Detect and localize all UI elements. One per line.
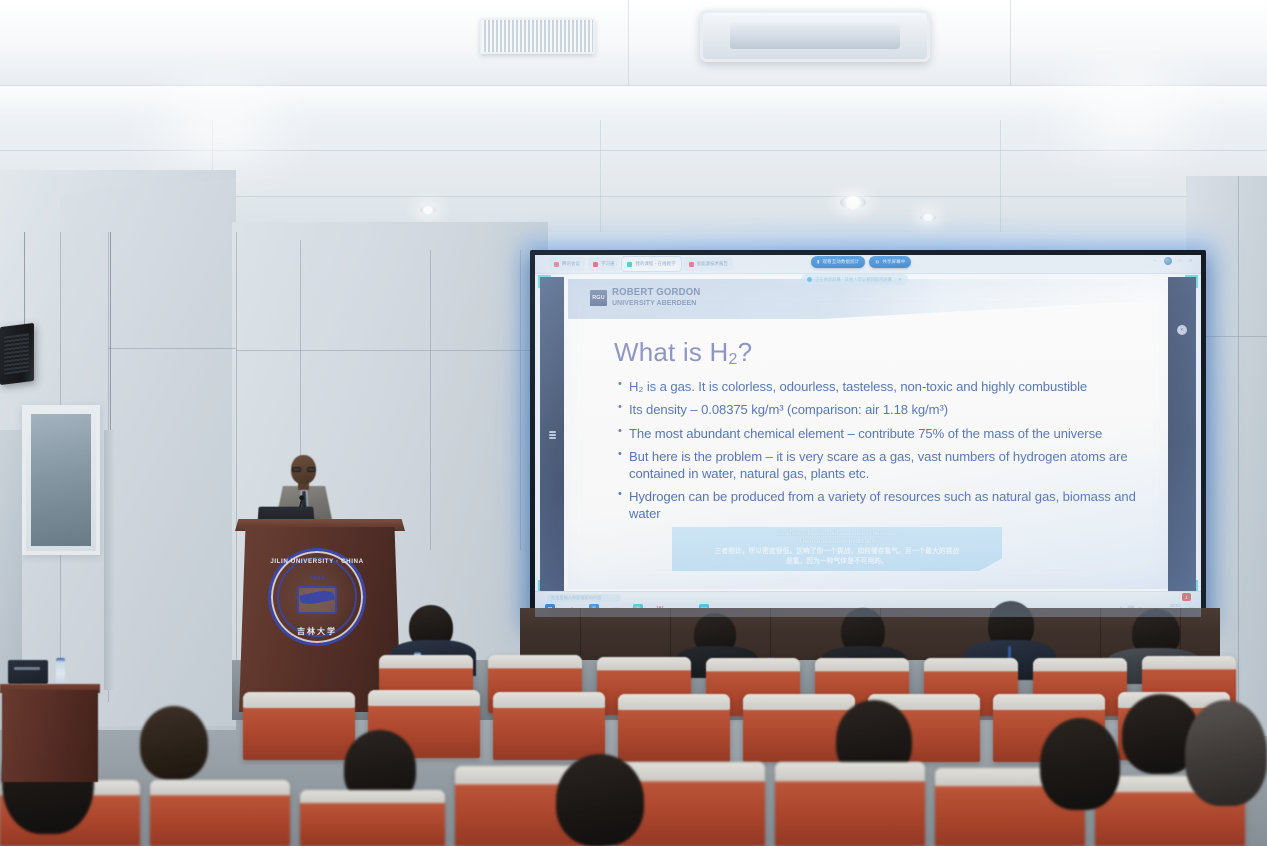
slide-bullet: H₂ is a gas. It is colorless, odourless,… [618, 379, 1138, 395]
wall-recess [104, 430, 114, 690]
ceiling-glow [1000, 60, 1260, 160]
downlight [920, 214, 936, 221]
signal-icon: ▮ [817, 259, 820, 265]
projection-screen[interactable]: 腾讯会议 学习通 我的课程 - 在线教学 氢能源技术报告 ▮ 观看互动数据统计 … [535, 255, 1201, 617]
ceiling-tile-seam [1000, 120, 1001, 232]
caption-english-line2: There are a lot of hydrogen [678, 538, 996, 546]
slide-title: What is H2? [614, 337, 752, 369]
taskbar-search-input[interactable]: 在这里输入你要搜索的内容 [547, 594, 621, 602]
wall-panel-seam [1238, 176, 1239, 736]
ac-diffuser [700, 10, 930, 62]
speaker-hanging-wire [24, 232, 25, 328]
close-button[interactable]: ✕ [1189, 258, 1193, 264]
browser-tab-active[interactable]: 我的课程 - 在线教学 [622, 257, 680, 271]
presentation-slide[interactable]: RGU ROBERT GORDON UNIVERSITY ABERDEEN Wh… [568, 279, 1168, 589]
stats-pill-button[interactable]: ▮ 观看互动数据统计 [811, 256, 865, 268]
share-pill-label: 共享屏幕中 [882, 259, 905, 265]
tab-label: 我的课程 - 在线教学 [635, 261, 675, 267]
rgu-logo-line2: UNIVERSITY ABERDEEN [612, 299, 700, 307]
left-sidebar-rail[interactable] [540, 277, 564, 593]
slide-bullet: But here is the problem – it is very sca… [618, 449, 1138, 482]
auditorium-seat [775, 762, 925, 846]
tab-favicon [689, 262, 694, 267]
slide-bullet: Its density – 0.08375 kg/m³ (comparison:… [618, 402, 1138, 418]
auditorium-seat [300, 790, 445, 846]
screen-share-pill-button[interactable]: ◍ 共享屏幕中 [869, 256, 911, 268]
side-desk [2, 690, 98, 782]
ceiling-tile-seam [600, 120, 601, 232]
wall-panel-seam [236, 350, 548, 351]
ceiling-tile-seam [628, 0, 629, 86]
hamburger-menu-icon[interactable] [549, 431, 556, 438]
browser-tab[interactable]: 氢能源技术报告 [684, 257, 733, 271]
auditorium-seat [618, 694, 730, 762]
slide-bullet: Hydrogen can be produced from a variety … [618, 489, 1138, 522]
right-sidebar-rail[interactable]: ‹ [1168, 277, 1196, 593]
browser-tab[interactable]: 学习通 [588, 257, 619, 271]
downlight [840, 196, 866, 209]
air-vent [480, 18, 595, 54]
audience-head [556, 754, 644, 846]
globe-icon[interactable] [1164, 257, 1172, 265]
live-caption-overlay: as a form of gas is not available. There… [672, 527, 1002, 571]
notification-badge[interactable]: 1 [1182, 593, 1191, 601]
tab-favicon [593, 262, 598, 267]
audience-head [1185, 700, 1267, 806]
slide-bullet: The most abundant chemical element – con… [618, 426, 1138, 442]
audience-head [1040, 718, 1120, 810]
audience-head [140, 706, 208, 780]
browser-tab[interactable]: 腾讯会议 [549, 257, 585, 271]
crest-year: 1946 [268, 575, 366, 582]
auditorium-seat [243, 692, 355, 760]
equipment-case [8, 660, 48, 684]
ceiling-glow [100, 80, 340, 170]
ceiling-wire [110, 232, 111, 452]
tab-label: 氢能源技术报告 [697, 261, 728, 267]
tab-label: 腾讯会议 [562, 261, 580, 267]
sharing-note-label: 正在共享屏幕 · 其他人可以看到您的屏幕 [815, 277, 892, 283]
rgu-mark-icon: RGU [590, 290, 607, 306]
slide-title-suffix: ? [738, 337, 753, 367]
tab-label: 学习通 [601, 261, 614, 267]
mic-icon: ◍ [875, 259, 879, 265]
slide-title-prefix: What is H [614, 337, 728, 367]
caption-chinese-line1: 三者相比，所以密度很低。这响了你一个挑战，如何储存氢气。另一个最大的挑战 [678, 547, 996, 556]
caption-english-line1: as a form of gas is not available. There… [678, 530, 996, 538]
side-window [22, 405, 100, 555]
auditorium-seat [493, 692, 605, 760]
sharing-notification-bar[interactable]: 正在共享屏幕 · 其他人可以看到您的屏幕 ✕ [801, 274, 908, 285]
water-bottle [56, 658, 65, 684]
tab-favicon [627, 262, 632, 267]
rgu-logo: RGU ROBERT GORDON UNIVERSITY ABERDEEN [590, 288, 708, 307]
focus-corner-marker [538, 275, 551, 288]
stats-pill-label: 观看互动数据统计 [823, 259, 860, 265]
wall-loudspeaker [0, 323, 34, 385]
maximize-button[interactable]: □ [1179, 258, 1182, 264]
eyeglasses-icon [291, 467, 316, 472]
caption-chinese-line2: 是氢，因为一种气体是不可用的。 [678, 557, 996, 566]
focus-corner-marker [1185, 275, 1198, 288]
downlight [420, 206, 436, 214]
lecture-hall-photo: 腾讯会议 学习通 我的课程 - 在线教学 氢能源技术报告 ▮ 观看互动数据统计 … [0, 0, 1267, 846]
share-dot-icon [807, 277, 812, 282]
wall-panel-seam [108, 348, 236, 349]
crest-top-text: JILIN UNIVERSITY · CHINA [268, 558, 366, 565]
close-icon[interactable]: ✕ [898, 277, 902, 283]
university-crest: JILIN UNIVERSITY · CHINA 1946 吉林大学 [268, 548, 366, 646]
window-glass [31, 414, 91, 546]
rgu-logo-line1: ROBERT GORDON [612, 288, 700, 298]
rgu-wordmark: ROBERT GORDON UNIVERSITY ABERDEEN [612, 288, 708, 307]
minimize-button[interactable]: ─ [1153, 258, 1157, 264]
window-controls[interactable]: ─ □ ✕ [1153, 257, 1193, 265]
share-status-pills[interactable]: ▮ 观看互动数据统计 ◍ 共享屏幕中 [811, 256, 911, 268]
slide-bullet-list: H₂ is a gas. It is colorless, odourless,… [618, 379, 1138, 522]
chevron-left-icon[interactable]: ‹ [1177, 325, 1187, 335]
wall-panel-seam [236, 232, 237, 702]
wall-panel-seam [430, 250, 431, 550]
crest-bottom-text: 吉林大学 [268, 626, 366, 637]
ceiling-tile-seam [1010, 0, 1011, 86]
auditorium-seat [150, 780, 290, 846]
slide-title-subscript: 2 [728, 351, 737, 368]
tab-favicon [554, 262, 559, 267]
